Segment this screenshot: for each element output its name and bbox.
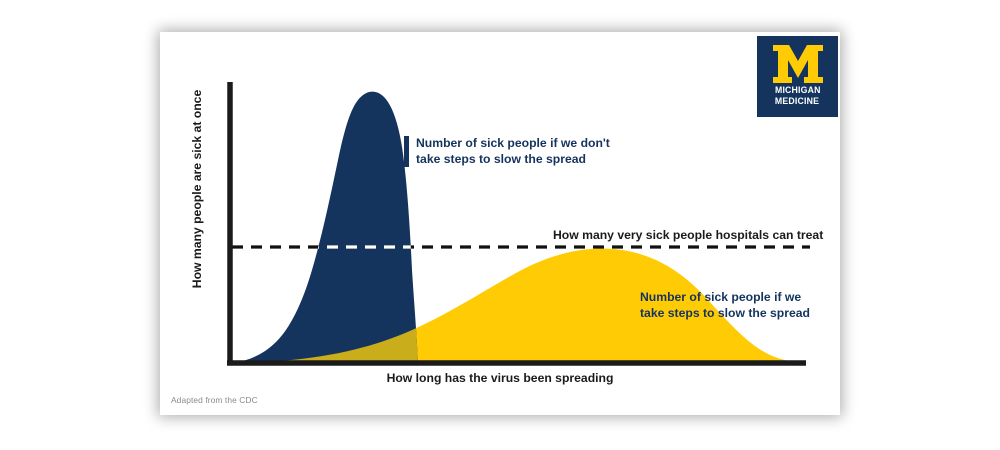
infographic-card: How many people are sick at once How lon… [160, 32, 840, 415]
y-axis-label: How many people are sick at once [190, 84, 204, 294]
capacity-line-label: How many very sick people hospitals can … [553, 228, 823, 243]
logo-text-medicine: MEDICINE [775, 96, 819, 107]
legend-label-with-mitigation: Number of sick people if we take steps t… [640, 290, 810, 321]
legend-swatch-navy [404, 136, 409, 167]
logo-text-michigan: MICHIGAN [775, 85, 821, 96]
epidemic-curve-chart: How many people are sick at once How lon… [160, 32, 840, 415]
legend-item-no-mitigation: Number of sick people if we don't take s… [404, 136, 610, 167]
source-credit: Adapted from the CDC [171, 395, 258, 405]
legend-label-no-mitigation: Number of sick people if we don't take s… [416, 136, 610, 167]
legend-item-with-mitigation: Number of sick people if we take steps t… [628, 290, 810, 321]
block-m-icon [772, 43, 824, 85]
series-area-unmitigated [234, 92, 418, 363]
flatten-the-curve-svg [160, 32, 840, 415]
legend-swatch-maize [628, 290, 633, 321]
x-axis-label: How long has the virus been spreading [160, 371, 840, 385]
screenshot-root: How many people are sick at once How lon… [0, 0, 1000, 450]
michigan-medicine-logo: MICHIGAN MEDICINE [757, 36, 838, 117]
